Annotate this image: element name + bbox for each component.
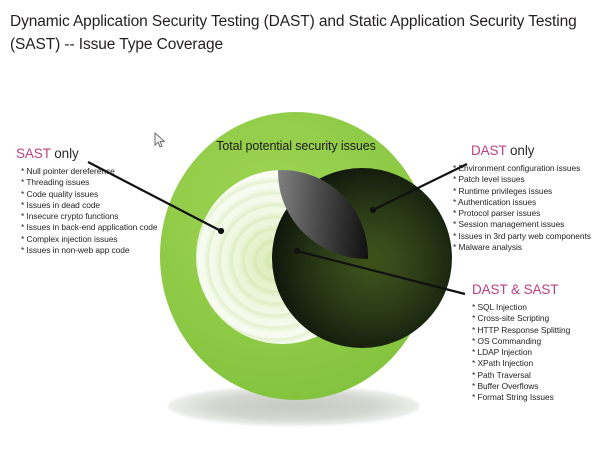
list-item: * HTTP Response Splitting [462,325,570,336]
list-item: * Issues in non-web app code [14,245,157,256]
list-item: * Issues in back-end application code [14,222,157,233]
list-item: * XPath Injection [462,358,570,369]
callout-dast-tag: DAST [471,143,506,158]
callout-both-heading: DAST & SAST [462,282,570,297]
list-item: * Path Traversal [462,370,570,381]
callout-sast-suffix: only [51,146,79,161]
callout-dast-suffix: only [506,143,534,158]
callout-sast-only: SAST only * Null pointer dereference * T… [14,146,157,256]
list-item: * Cross-site Scripting [462,313,570,324]
callout-dast-heading: DAST only [452,143,591,158]
list-item: * Authentication issues [452,197,591,208]
list-item: * Issues in 3rd party web components [452,231,591,242]
list-item: * Insecure crypto functions [14,211,157,222]
list-item: * Issues in dead code [14,200,157,211]
list-item: * Format String Issues [462,392,570,403]
list-item: * Null pointer dereference [14,166,157,177]
callout-sast-list: * Null pointer dereference * Threading i… [14,166,157,256]
list-item: * SQL Injection [462,302,570,313]
list-item: * Malware analysis [452,242,591,253]
list-item: * Threading issues [14,177,157,188]
list-item: * Code quality issues [14,189,157,200]
callout-both-list: * SQL Injection * Cross-site Scripting *… [462,302,570,404]
list-item: * Protocol parser issues [452,208,591,219]
callout-sast-heading: SAST only [14,146,157,161]
diagram-page: Dynamic Application Security Testing (DA… [0,0,600,450]
list-item: * Environment configuration issues [452,163,591,174]
callout-dast-list: * Environment configuration issues * Pat… [452,163,591,253]
callout-dast-and-sast: DAST & SAST * SQL Injection * Cross-site… [462,282,570,404]
callout-dast-only: DAST only * Environment configuration is… [452,143,591,253]
list-item: * Runtime privileges issues [452,186,591,197]
list-item: * OS Commanding [462,336,570,347]
list-item: * Complex injection issues [14,234,157,245]
callout-both-tag: DAST & SAST [472,282,558,297]
list-item: * Session management issues [452,219,591,230]
leader-line-dast-and-sast [294,248,465,294]
callout-sast-tag: SAST [16,146,51,161]
list-item: * LDAP Injection [462,347,570,358]
list-item: * Patch level issues [452,174,591,185]
list-item: * Buffer Overflows [462,381,570,392]
